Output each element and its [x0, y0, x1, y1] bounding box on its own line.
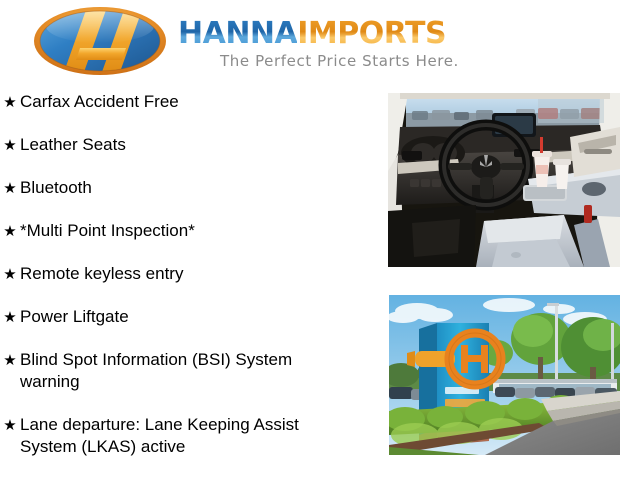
feature-label: Carfax Accident Free [20, 91, 213, 113]
hanna-oval-h-monogram-icon [30, 6, 170, 76]
list-item: ★ Power Liftgate [0, 306, 372, 328]
feature-label: Power Liftgate [20, 306, 163, 328]
list-item: ★ Remote keyless entry [0, 263, 372, 285]
dealership-sign-photo[interactable] [389, 295, 620, 455]
star-bullet-icon: ★ [0, 349, 20, 371]
vehicle-interior-photo[interactable] [388, 93, 620, 267]
list-item: ★ Blind Spot Information (BSI) System wa… [0, 349, 372, 393]
list-item: ★ *Multi Point Inspection* [0, 220, 372, 242]
feature-label: Leather Seats [20, 134, 160, 156]
star-bullet-icon: ★ [0, 91, 20, 113]
brand-logo-lockup: HANNAIMPORTS The Perfect Price Starts He… [30, 6, 459, 76]
list-item: ★ Lane departure: Lane Keeping Assist Sy… [0, 414, 372, 458]
star-bullet-icon: ★ [0, 263, 20, 285]
brand-wordmark-block: HANNAIMPORTS The Perfect Price Starts He… [178, 13, 459, 70]
star-bullet-icon: ★ [0, 177, 20, 199]
list-item: ★ Carfax Accident Free [0, 91, 372, 113]
feature-label: Bluetooth [20, 177, 126, 199]
vehicle-feature-list: ★ Carfax Accident Free ★ Leather Seats ★… [0, 91, 372, 479]
list-item: ★ Bluetooth [0, 177, 372, 199]
brand-wordmark: HANNAIMPORTS [178, 19, 446, 49]
brand-name-imports: IMPORTS [297, 16, 446, 51]
list-item: ★ Leather Seats [0, 134, 372, 156]
feature-label: *Multi Point Inspection* [20, 220, 229, 242]
feature-label: Remote keyless entry [20, 263, 217, 285]
star-bullet-icon: ★ [0, 414, 20, 436]
brand-header: HANNAIMPORTS The Perfect Price Starts He… [0, 0, 640, 88]
brand-tagline: The Perfect Price Starts Here. [220, 52, 459, 70]
feature-label: Lane departure: Lane Keeping Assist Syst… [20, 414, 372, 458]
brand-name-hanna: HANNA [178, 16, 297, 51]
star-bullet-icon: ★ [0, 306, 20, 328]
star-bullet-icon: ★ [0, 134, 20, 156]
feature-label: Blind Spot Information (BSI) System warn… [20, 349, 372, 393]
star-bullet-icon: ★ [0, 220, 20, 242]
